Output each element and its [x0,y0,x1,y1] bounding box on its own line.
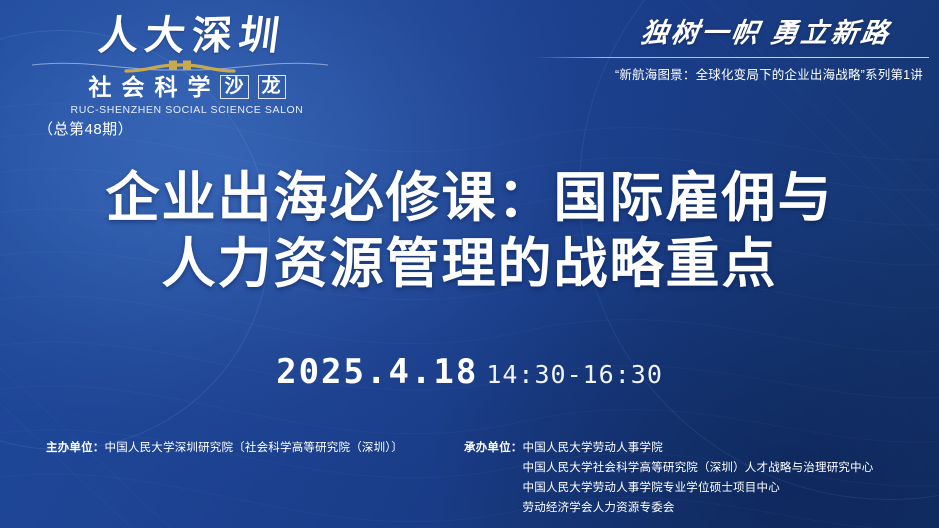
logo-sub-char-2: 会 [121,76,145,99]
host-lines: 中国人民大学深圳研究院〔社会科学高等研究院（深圳）〕 [105,438,403,458]
title-line-1: 企业出海必修课：国际雇佣与 [0,166,939,232]
logo-char-4: 圳 [236,15,282,56]
logo-boxed-char-1: 沙 [220,75,248,99]
event-time: 14:30-16:30 [486,360,663,389]
logo-sub-characters: 社 会 科 学 沙 龙 [30,75,330,99]
logo-bridge-ornament [30,58,330,74]
series-subtitle: “新航海图景：全球化变局下的企业出海战略”系列第1讲 [509,64,929,83]
organizer-line: 中国人民大学劳动人事学院专业学位硕士项目中心 [523,478,874,498]
organizer-organizations: 承办单位： 中国人民大学劳动人事学院 中国人民大学社会科学高等研究院（深圳）人才… [464,438,909,519]
logo-sub-char-4: 学 [187,76,211,99]
header-divider [534,57,929,58]
poster-canvas: 人 大 深 圳 社 会 科 学 沙 龙 RUC-SHENZHEN SOCIAL … [0,0,939,528]
calligraphy-slogan: 独树一帜 勇立新路 [507,18,932,49]
salon-logo: 人 大 深 圳 社 会 科 学 沙 龙 RUC-SHENZHEN SOCIAL … [30,8,330,116]
organizer-line: 中国人民大学劳动人事学院 [523,438,874,458]
logo-char-1: 人 [97,15,141,56]
organizer-line: 劳动经济学会人力资源专委会 [523,498,874,518]
logo-sub-char-1: 社 [88,76,112,99]
page-title: 企业出海必修课：国际雇佣与 人力资源管理的战略重点 [0,166,939,298]
header-right-block: 独树一帜 勇立新路 “新航海图景：全球化变局下的企业出海战略”系列第1讲 [509,18,929,83]
event-date: 2025.4.18 [276,352,478,392]
footer-organizations: 主办单位： 中国人民大学深圳研究院〔社会科学高等研究院（深圳）〕 承办单位： 中… [0,438,939,519]
organizer-line: 中国人民大学社会科学高等研究院（深圳）人才战略与治理研究中心 [523,458,874,478]
organizer-lines: 中国人民大学劳动人事学院 中国人民大学社会科学高等研究院（深圳）人才战略与治理研… [523,438,874,519]
organizer-label: 承办单位： [464,438,523,458]
logo-boxed-char-2: 龙 [258,75,286,99]
logo-main-characters: 人 大 深 圳 [30,8,330,56]
host-line: 中国人民大学深圳研究院〔社会科学高等研究院（深圳）〕 [105,438,403,458]
logo-sub-char-3: 科 [154,76,178,99]
logo-char-2: 大 [143,16,189,57]
host-label: 主办单位： [46,438,105,458]
title-line-2: 人力资源管理的战略重点 [0,232,939,298]
logo-char-3: 深 [191,15,233,56]
issue-number: （总第48期） [38,118,133,139]
logo-english-name: RUC-SHENZHEN SOCIAL SCIENCE SALON [30,104,330,116]
event-datetime: 2025.4.1814:30-16:30 [0,352,939,392]
host-organization: 主办单位： 中国人民大学深圳研究院〔社会科学高等研究院（深圳）〕 [46,438,446,458]
